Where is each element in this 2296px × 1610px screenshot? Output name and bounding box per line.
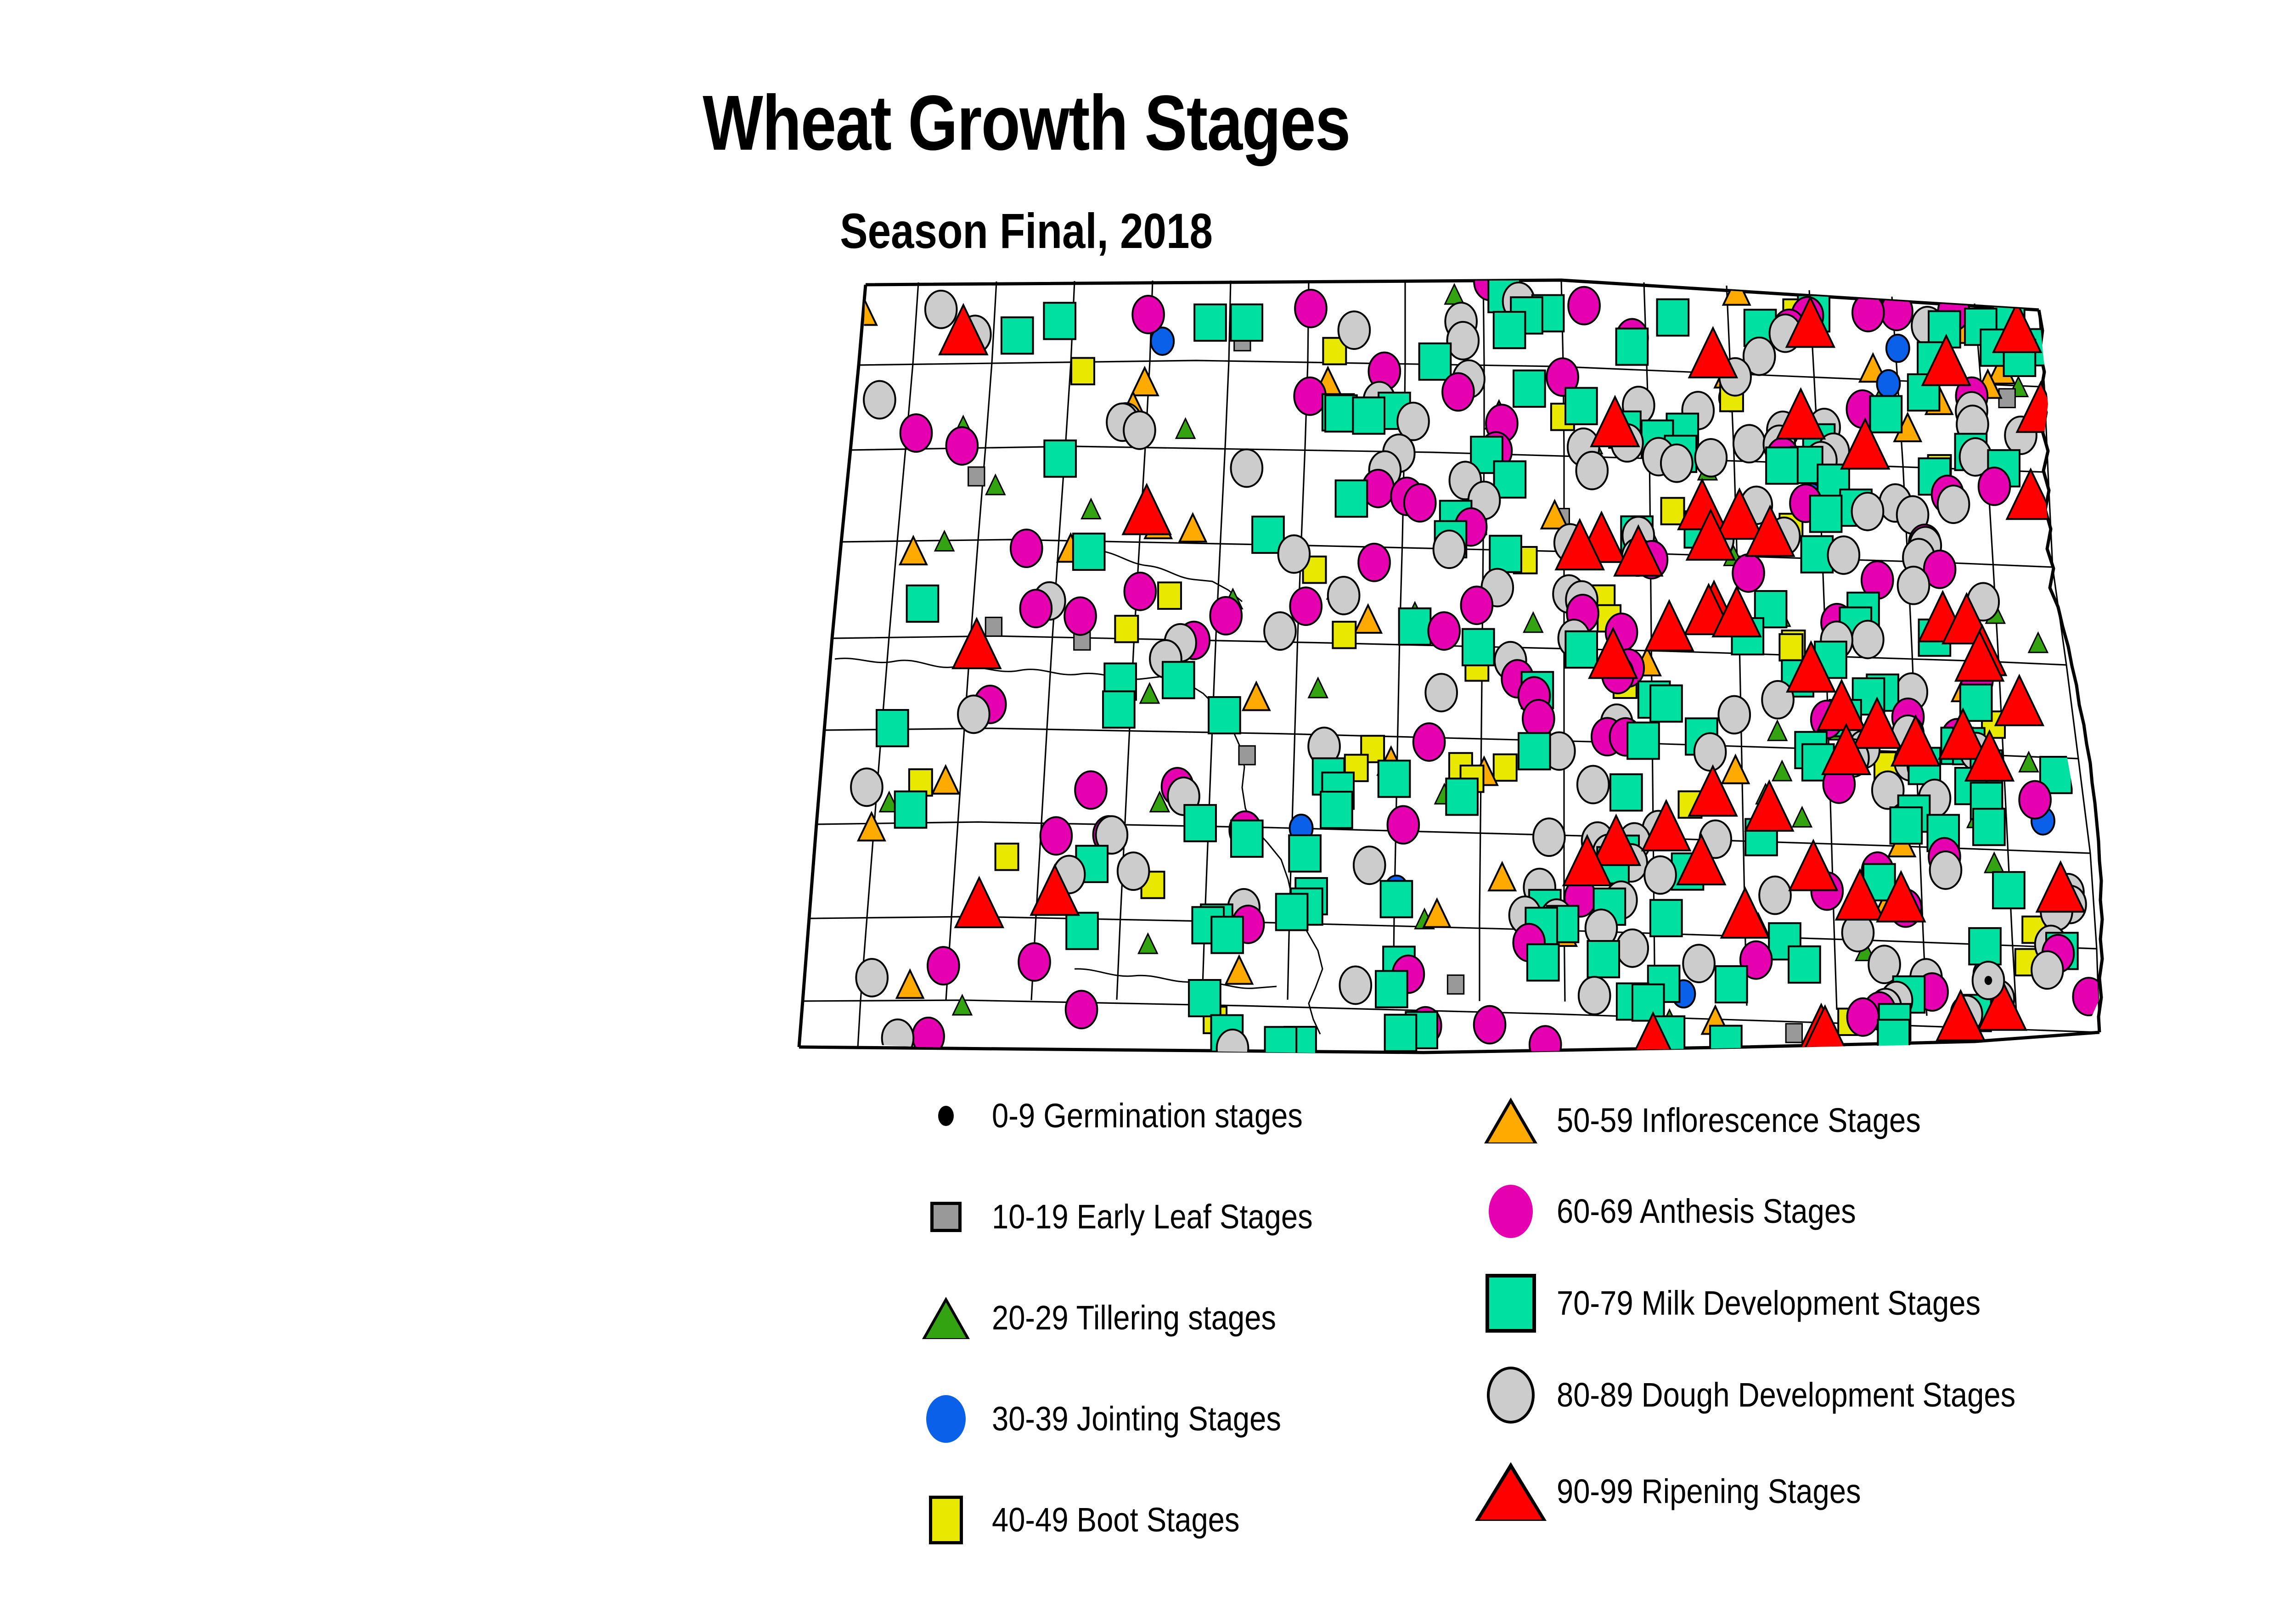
legend-item-tillering[interactable]: 20-29 Tillering stages — [900, 1286, 1315, 1350]
legend-item-anthesis[interactable]: 60-69 Anthesis Stages — [1465, 1179, 1897, 1244]
page-subtitle: Season Final, 2018 — [164, 202, 1889, 259]
legend-item-jointing[interactable]: 30-39 Jointing Stages — [900, 1387, 1321, 1451]
legend-label-germination: 0-9 Germination stages — [992, 1099, 1303, 1133]
legend-label-boot: 40-49 Boot Stages — [992, 1503, 1239, 1537]
page-title: Wheat Growth Stages — [185, 78, 1868, 168]
legend-item-ripening[interactable]: 90-99 Ripening Stages — [1465, 1459, 1902, 1524]
legend-item-inflorescence[interactable]: 50-59 Inflorescence Stages — [1465, 1088, 1970, 1153]
legend-item-milk[interactable]: 70-79 Milk Development Stages — [1465, 1271, 2038, 1335]
legend-item-early-leaf[interactable]: 10-19 Early Leaf Stages — [900, 1185, 1356, 1249]
jointing-circle-icon — [900, 1387, 992, 1451]
legend-column-left: 0-9 Germination stages 10-19 Early Leaf … — [900, 1084, 1442, 1548]
legend-item-dough[interactable]: 80-89 Dough Development Stages — [1465, 1363, 2078, 1427]
early-leaf-square-icon — [900, 1185, 992, 1249]
north-dakota-map — [781, 266, 2140, 1075]
legend-label-inflorescence: 50-59 Inflorescence Stages — [1557, 1103, 1921, 1137]
boot-square-icon — [900, 1488, 992, 1552]
legend: 0-9 Germination stages 10-19 Early Leaf … — [900, 1084, 2103, 1548]
germination-dot-icon — [900, 1084, 992, 1148]
map-svg — [781, 266, 2140, 1075]
wheat-growth-stages-map-page: Wheat Growth Stages Season Final, 2018 — [0, 0, 2296, 1610]
legend-column-right: 50-59 Inflorescence Stages 60-69 Anthesi… — [1465, 1084, 2103, 1548]
legend-label-early-leaf: 10-19 Early Leaf Stages — [992, 1200, 1313, 1234]
legend-item-germination[interactable]: 0-9 Germination stages — [900, 1084, 1345, 1148]
tillering-triangle-icon — [900, 1286, 992, 1350]
legend-label-anthesis: 60-69 Anthesis Stages — [1557, 1194, 1856, 1228]
anthesis-circle-icon — [1465, 1179, 1557, 1244]
inflorescence-triangle-icon — [1465, 1088, 1557, 1153]
legend-label-jointing: 30-39 Jointing Stages — [992, 1402, 1281, 1436]
legend-label-tillering: 20-29 Tillering stages — [992, 1301, 1276, 1335]
legend-label-dough: 80-89 Dough Development Stages — [1557, 1378, 2015, 1412]
legend-label-milk: 70-79 Milk Development Stages — [1557, 1286, 1981, 1320]
dough-circle-icon — [1465, 1363, 1557, 1427]
milk-square-icon — [1465, 1271, 1557, 1335]
ripening-triangle-icon — [1465, 1459, 1557, 1524]
legend-label-ripening: 90-99 Ripening Stages — [1557, 1475, 1861, 1509]
legend-item-boot[interactable]: 40-49 Boot Stages — [900, 1488, 1273, 1552]
